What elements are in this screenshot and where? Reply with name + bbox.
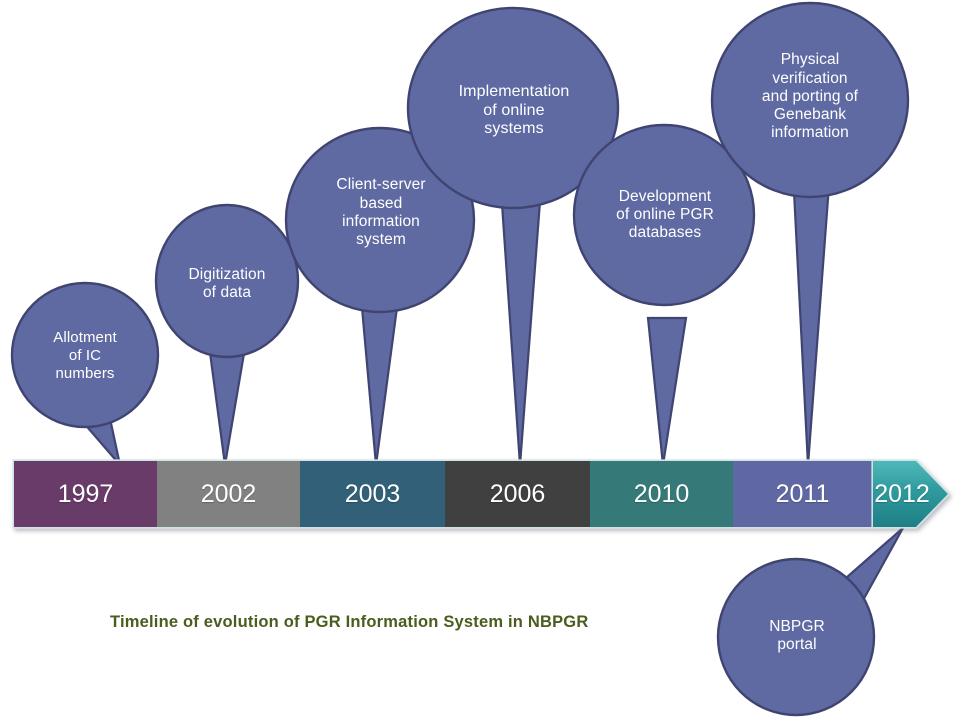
timeline-year-2010: 2010 [590,461,733,527]
timeline-year-2012: 2012 [866,461,938,527]
bubble-1997[interactable] [12,283,158,427]
timeline-year-2002: 2002 [157,461,300,527]
timeline-figure: Allotment of IC numbers Digitization of … [0,0,960,720]
tail-2006 [500,175,542,465]
bubble-2011[interactable] [712,3,908,197]
bubble-2012[interactable] [718,559,874,715]
figure-caption: Timeline of evolution of PGR Information… [110,613,710,632]
timeline-year-2006: 2006 [445,461,590,527]
diagram-graphics [0,0,960,720]
bubble-2002[interactable] [156,205,298,357]
timeline-year-2003: 2003 [300,461,445,527]
timeline-year-1997: 1997 [14,461,157,527]
tail-2010 [648,318,686,465]
tail-2011 [793,172,830,465]
callout-bubbles [12,3,908,715]
timeline-year-2011: 2011 [733,461,872,527]
